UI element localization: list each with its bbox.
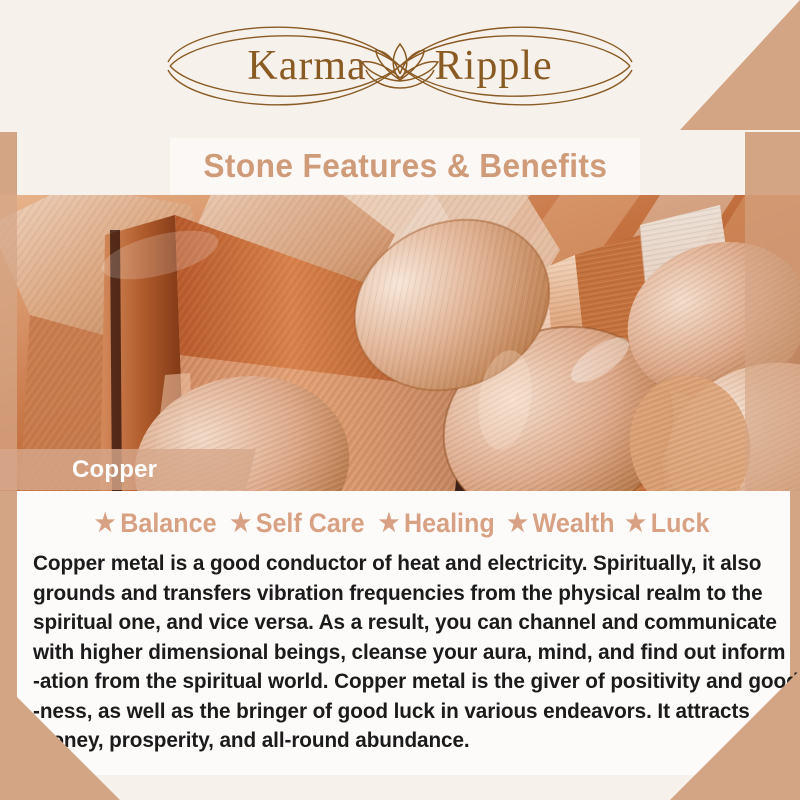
stone-photo bbox=[0, 195, 800, 491]
star-icon: ★ bbox=[507, 508, 528, 538]
section-title-band: Stone Features & Benefits bbox=[170, 138, 640, 194]
photo-left-frame-overlay bbox=[0, 195, 17, 491]
benefit-item: ★ Healing bbox=[378, 508, 498, 539]
description-line: grounds and transfers vibration frequenc… bbox=[33, 579, 756, 609]
star-icon: ★ bbox=[626, 508, 647, 538]
benefit-label: Balance bbox=[121, 508, 217, 539]
benefit-label: Wealth bbox=[532, 508, 614, 539]
benefit-label: Healing bbox=[404, 508, 495, 539]
benefit-item: ★ Luck bbox=[626, 508, 714, 539]
bottom-strip bbox=[17, 775, 745, 800]
description-line: -ness, as well as the bringer of good lu… bbox=[33, 697, 756, 727]
benefit-item: ★ Balance bbox=[95, 508, 221, 539]
benefit-label: Luck bbox=[651, 508, 710, 539]
description-line: Copper metal is a good conductor of heat… bbox=[33, 549, 756, 579]
photo-right-frame-overlay bbox=[745, 195, 800, 491]
star-icon: ★ bbox=[95, 508, 116, 538]
copper-bars-illustration bbox=[0, 195, 800, 491]
description-text: Copper metal is a good conductor of heat… bbox=[33, 549, 782, 756]
star-icon: ★ bbox=[378, 508, 399, 538]
description-line: spiritual one, and vice versa. As a resu… bbox=[33, 608, 756, 638]
description-line: with higher dimensional beings, cleanse … bbox=[33, 638, 756, 668]
infographic-card: Karma Ripple Stone Features & Benefits bbox=[0, 0, 800, 800]
benefit-item: ★ Wealth bbox=[507, 508, 618, 539]
description-line: money, prosperity, and all-round abundan… bbox=[33, 726, 756, 756]
page-title: Stone Features & Benefits bbox=[203, 147, 607, 185]
brand-logo: Karma Ripple bbox=[160, 18, 640, 114]
benefit-item: ★ Self Care bbox=[231, 508, 369, 539]
stone-name-banner: Copper bbox=[0, 449, 256, 490]
stone-name: Copper bbox=[72, 456, 157, 484]
brand-wordmark: Karma Ripple bbox=[247, 42, 552, 90]
description-line: -ation from the spiritual world. Copper … bbox=[33, 667, 756, 697]
benefits-list: ★ Balance ★ Self Care ★ Healing ★ Wealth… bbox=[17, 505, 790, 541]
brand-name-right: Ripple bbox=[435, 42, 553, 90]
header: Karma Ripple bbox=[0, 0, 800, 132]
benefit-label: Self Care bbox=[256, 508, 365, 539]
brand-name-left: Karma bbox=[247, 42, 366, 90]
star-icon: ★ bbox=[231, 508, 252, 538]
content-panel: ★ Balance ★ Self Care ★ Healing ★ Wealth… bbox=[17, 491, 790, 775]
